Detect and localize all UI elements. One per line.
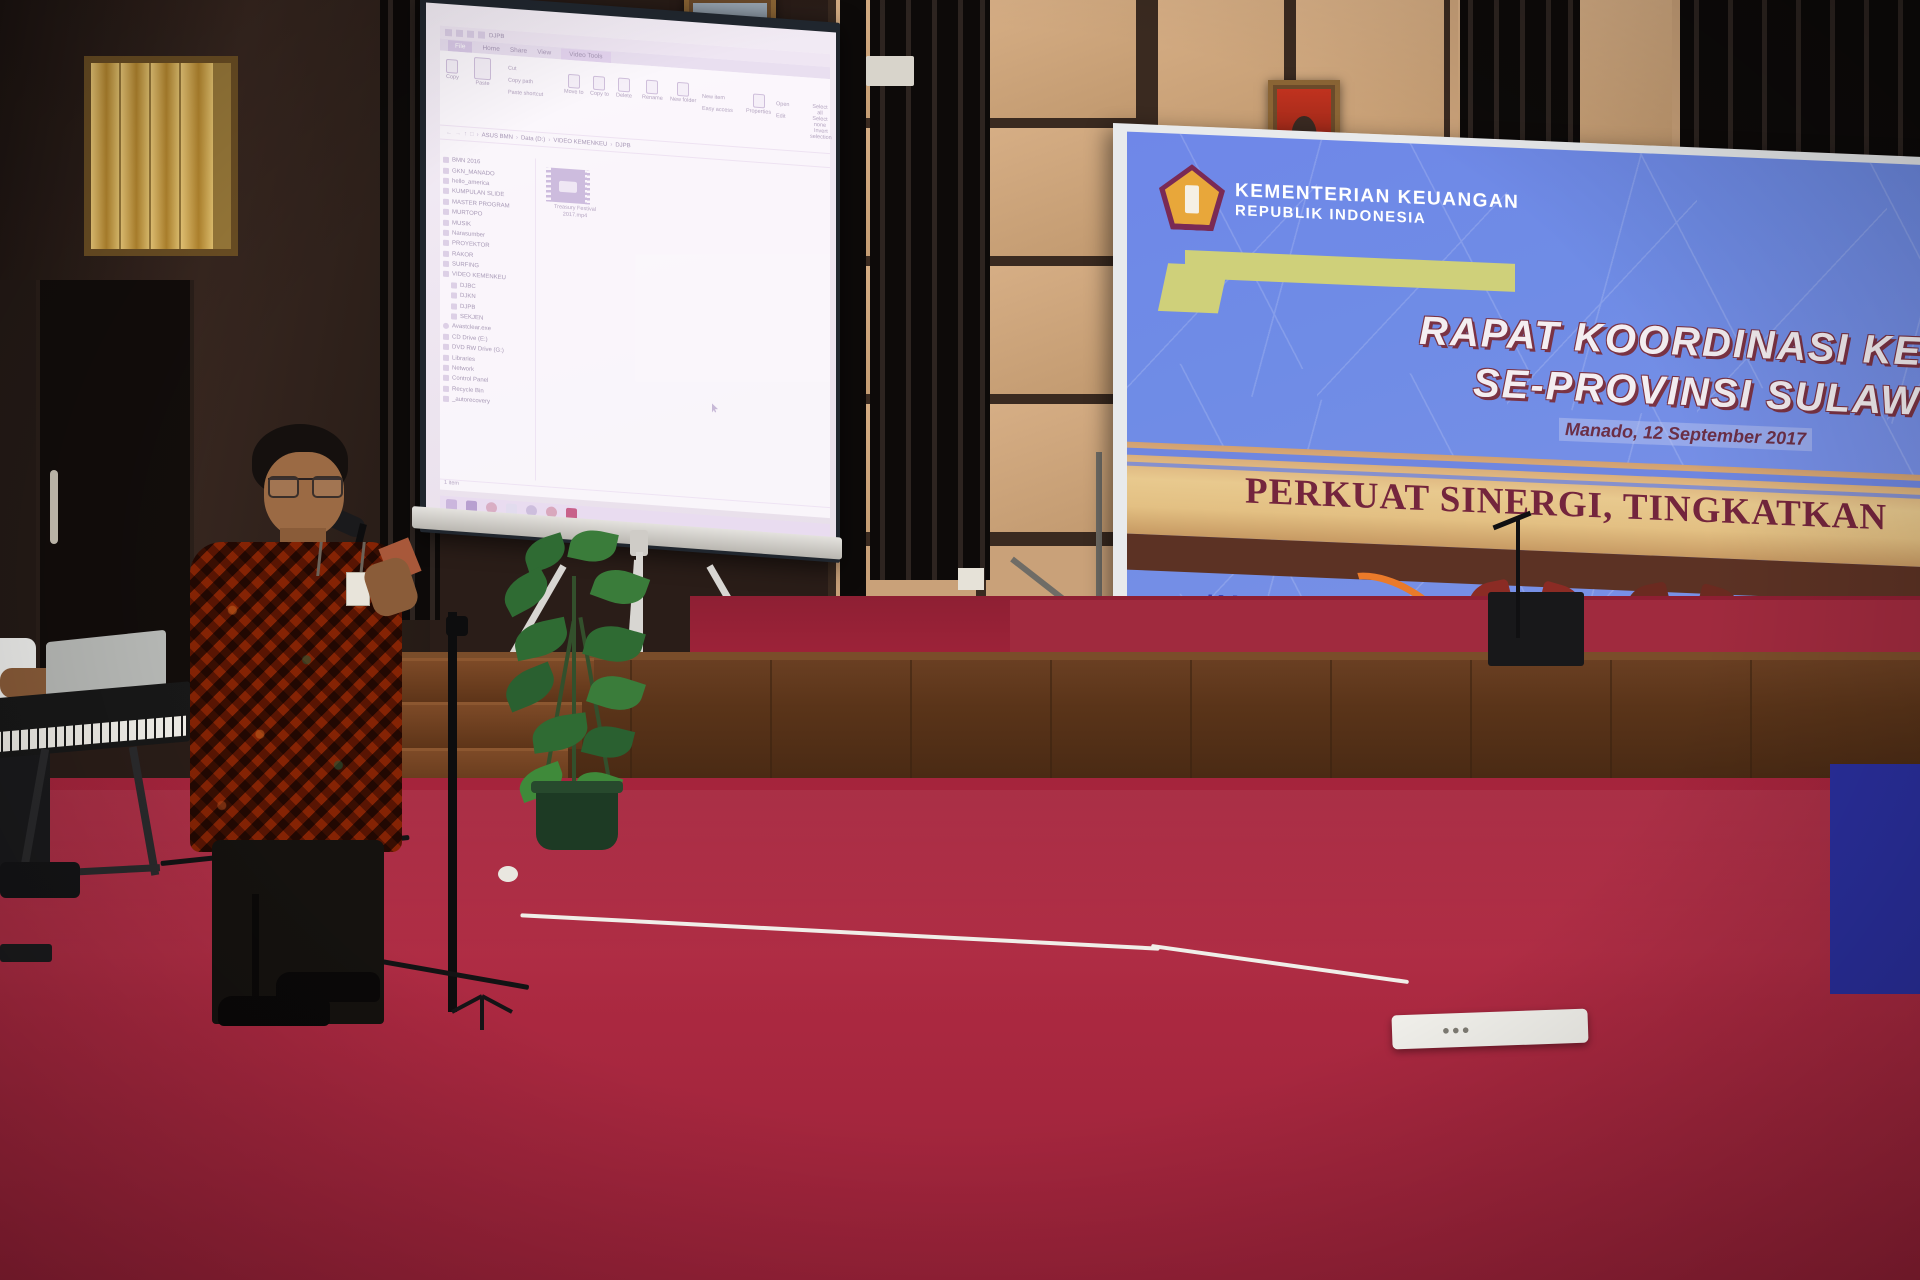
folder-icon [451,303,457,309]
breadcrumb-3[interactable]: DJPB [615,142,630,149]
folder-icon [443,230,449,236]
ribbon-select-none[interactable]: Select none [812,116,827,129]
wall-outlet [958,568,984,590]
folder-icon [443,250,449,256]
breadcrumb-1[interactable]: Data (D:) [521,135,545,143]
ribbon-rename[interactable]: Rename [642,94,663,102]
ribbon-easy-access[interactable]: Easy access [702,106,733,114]
nav-item-label[interactable]: Narasumber [452,230,485,238]
speaker-shoe-right [276,972,380,1002]
blue-table [1830,764,1920,994]
nav-item-label[interactable]: Avastclear.exe [452,324,491,333]
dvd-drive-icon [443,344,449,350]
nav-item-label[interactable]: SEKJEN [460,314,483,322]
ribbon-new-folder[interactable]: New folder [670,96,696,104]
video-file-icon [546,167,590,204]
nav-item-label[interactable]: Control Panel [452,376,488,385]
tab-home[interactable]: Home [482,44,499,52]
photo-scene: DJPB File Home Share View Video Tools Co… [0,0,1920,1280]
stage-carpet-right [1010,600,1920,660]
tab-share[interactable]: Share [510,46,527,54]
nav-item-label[interactable]: hello_america [452,178,489,187]
nav-item-label[interactable]: BMN 2016 [452,158,480,166]
nav-item-label[interactable]: DJPB [460,304,475,311]
folder-icon [443,209,449,215]
folder-icon [443,178,449,184]
potted-plant [498,530,668,850]
back-icon[interactable]: ← [446,129,452,135]
nav-item-label[interactable]: _autorecovery [452,397,490,406]
file-explorer-window[interactable]: DJPB File Home Share View Video Tools Co… [440,25,830,518]
file-item-label: Treasury Festival 2017.mp4 [546,203,604,221]
mouse-cursor [712,403,718,412]
recycle-bin-icon [443,385,449,391]
ribbon-copy[interactable]: Copy [446,74,459,81]
wall-vent [866,56,914,86]
folder-icon [443,396,449,402]
ribbon-properties[interactable]: Properties [746,108,771,116]
nav-item-label[interactable]: MURTOPO [452,209,482,217]
nav-item-label[interactable]: DJBC [460,283,476,290]
ribbon-invert-selection[interactable]: Invert selection [810,128,832,141]
nav-item-label[interactable]: RAKOR [452,251,473,259]
folder-icon [443,219,449,225]
forward-icon[interactable]: → [455,130,461,136]
ribbon-copy-to[interactable]: Copy to [590,90,609,97]
wall-grille-b [870,0,990,580]
speaker-person [168,424,438,1044]
properties-icon[interactable] [467,30,474,38]
explorer-body: BMN 2016 GKN_MANADO hello_america KUMPUL… [440,151,830,502]
folder-icon [443,198,449,204]
new-folder-icon[interactable] [456,30,463,38]
folder-icon [443,188,449,194]
gold-wave-art-panel [84,56,238,256]
nav-item-label[interactable]: SURFING [452,261,479,269]
nav-item-label[interactable]: CD Drive (E:) [452,334,488,343]
cd-drive-icon [443,334,449,340]
folder-icon [443,261,449,267]
ribbon-copy-path[interactable]: Copy path [508,77,533,85]
projection-screen: DJPB File Home Share View Video Tools Co… [420,0,840,563]
ribbon-delete[interactable]: Delete [616,92,632,99]
speaker-lanyard [316,542,366,576]
dropdown-icon[interactable] [478,31,485,39]
microphone-stand-pole [448,612,457,1012]
folder-icon [451,313,457,319]
network-icon [443,365,449,371]
ribbon-new-item[interactable]: New item [702,94,725,102]
up-icon[interactable]: ↑ [464,131,467,137]
nav-item-label[interactable]: Network [452,365,474,373]
folder-icon [443,240,449,246]
navigation-pane[interactable]: BMN 2016 GKN_MANADO hello_america KUMPUL… [440,151,536,480]
wall-grille-a [840,0,866,600]
folder-icon [443,167,449,173]
ribbon-paste[interactable]: Paste [475,80,489,87]
ribbon-edit[interactable]: Edit [776,113,785,120]
file-list-pane[interactable]: Treasury Festival 2017.mp4 [536,159,830,503]
remote-label: ●●● [1442,1022,1472,1038]
ribbon-move-to[interactable]: Move to [564,89,584,96]
small-floor-object [498,866,518,882]
folder-icon [451,293,457,299]
file-item[interactable]: Treasury Festival 2017.mp4 [546,167,830,238]
breadcrumb-2[interactable]: VIDEO KEMENKEU [553,137,607,147]
nav-item-label[interactable]: Recycle Bin [452,386,484,394]
ribbon-cut[interactable]: Cut [508,65,517,72]
nav-item-label[interactable]: Libraries [452,355,475,363]
musician-shoe [0,862,80,898]
eyeglasses-icon [268,478,342,496]
window-title: DJPB [489,33,504,40]
folder-icon [443,271,449,277]
ribbon-open[interactable]: Open [776,101,789,108]
tab-view[interactable]: View [537,48,551,56]
nav-item-label[interactable]: DJKN [460,293,476,300]
nav-item-label[interactable]: PROYEKTOR [452,241,490,250]
ribbon-paste-shortcut[interactable]: Paste shortcut [508,89,543,98]
microphone-clutch [446,616,468,636]
kemenkeu-emblem-icon [1159,163,1225,232]
control-panel-icon [443,375,449,381]
libraries-icon [443,354,449,360]
plant-pot [536,788,618,850]
quick-access-icon[interactable] [445,29,452,37]
presentation-remote[interactable]: ●●● [1391,1009,1588,1050]
nav-item-label[interactable]: MUSIK [452,220,471,227]
floor-plate [0,944,52,962]
screen-surface: DJPB File Home Share View Video Tools Co… [426,2,836,544]
ribbon-select-all[interactable]: Select all [812,104,827,117]
application-icon [443,323,449,329]
breadcrumb-0[interactable]: ASUS BMN [482,132,513,140]
computer-icon: □ [470,131,474,137]
folder-icon [443,157,449,163]
secondary-microphone-stand [1488,518,1548,638]
folder-icon [451,282,457,288]
